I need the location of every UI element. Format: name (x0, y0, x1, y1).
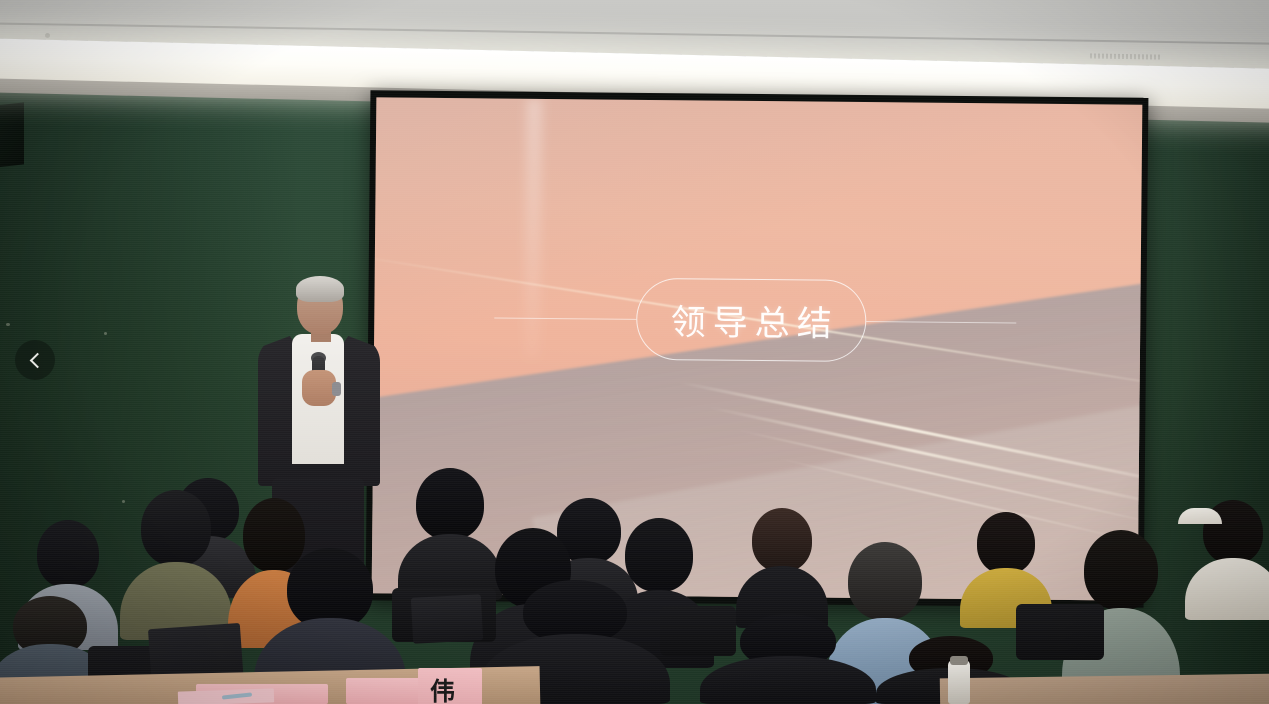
slide-title-pill: 领导总结 (636, 278, 867, 362)
shoulders (700, 656, 876, 704)
presenter-watch (332, 382, 341, 396)
head (141, 490, 211, 566)
head-graying (848, 542, 922, 620)
right-table (940, 674, 1269, 704)
chair-back (1016, 604, 1104, 660)
head (37, 520, 99, 588)
ceiling-vent (1090, 53, 1160, 59)
screen-glare (524, 99, 542, 359)
headband-accessory (1178, 508, 1222, 558)
head (752, 508, 812, 572)
placard-character: 伟 (430, 672, 455, 704)
water-bottle (948, 660, 970, 704)
wall-speck (6, 323, 10, 326)
photo-viewer-stage: 领导总结 (0, 0, 1269, 704)
laptop (411, 594, 483, 644)
water-bottle-cap (950, 656, 968, 665)
shoulders-white-top (1185, 558, 1269, 620)
wall-speck (104, 332, 107, 335)
previous-image-button[interactable] (15, 340, 55, 380)
presenter-hair (296, 276, 344, 302)
audience-member (120, 490, 232, 640)
presenter-hands (302, 370, 336, 406)
chevron-left-icon (29, 352, 45, 368)
slide-connector-line-left (494, 317, 636, 320)
white-headband (1178, 508, 1222, 524)
head (977, 512, 1035, 574)
chair-back (660, 606, 736, 656)
audience-member (736, 508, 828, 628)
wall-mounted-object (0, 102, 24, 167)
slide-title-text: 领导总结 (664, 294, 839, 347)
head (1084, 530, 1158, 610)
ceiling-fixture-dot (45, 33, 50, 38)
